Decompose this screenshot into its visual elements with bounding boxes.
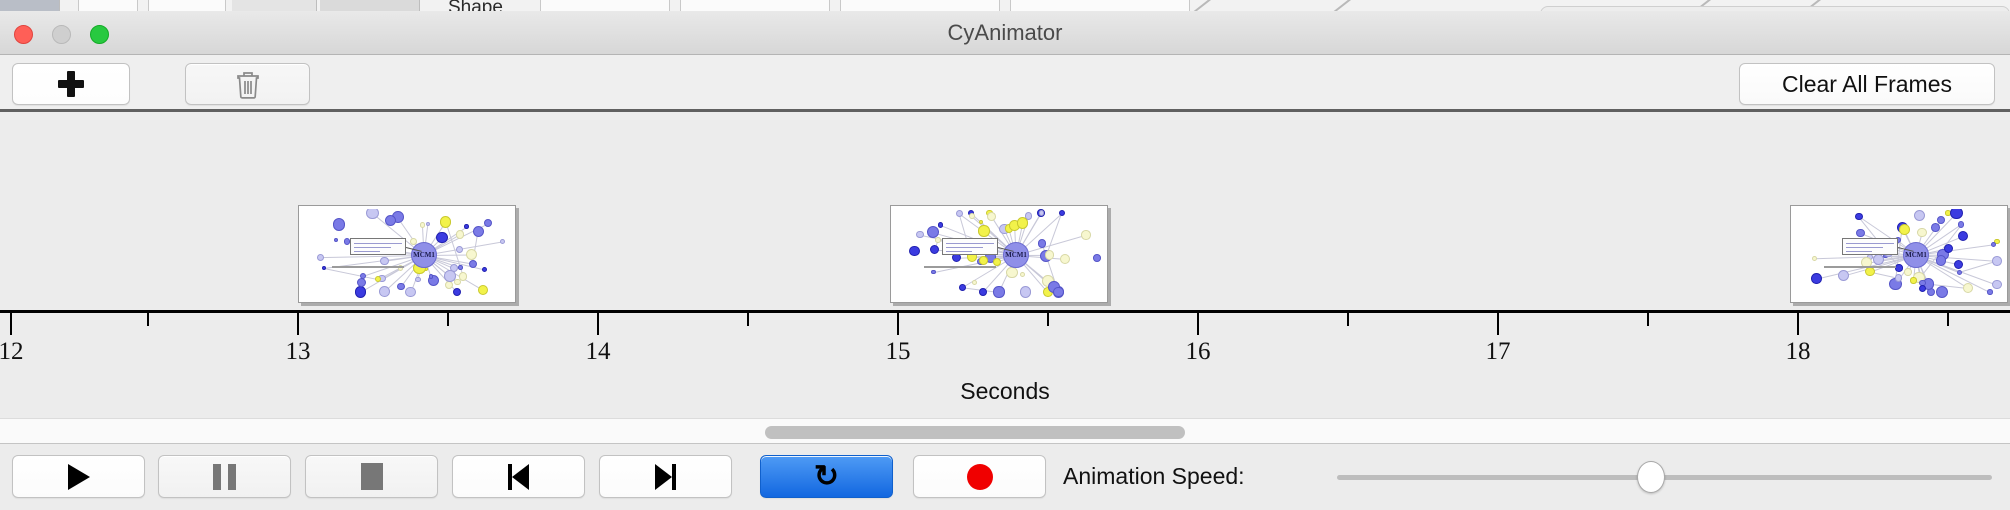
network-hub-node: MCM1 — [1003, 242, 1029, 268]
network-node — [1914, 210, 1925, 221]
ruler-tick-minor — [1047, 313, 1049, 326]
network-node — [993, 286, 1004, 297]
network-node — [1895, 264, 1902, 271]
ruler-tick-label: 18 — [1768, 338, 1828, 366]
network-node — [1917, 228, 1926, 237]
animation-speed-label: Animation Speed: — [1063, 455, 1245, 498]
network-node — [426, 222, 430, 226]
network-node — [466, 249, 477, 260]
network-node — [440, 216, 452, 228]
ruler-tick-major — [297, 313, 299, 335]
skip-to-end-button[interactable] — [599, 455, 732, 498]
annotation-text-line — [946, 247, 983, 248]
network-node — [469, 260, 477, 268]
network-node — [1873, 254, 1884, 265]
frame-caption-line — [924, 266, 996, 268]
network-node — [979, 288, 987, 296]
ruler-tick-major — [1197, 313, 1199, 335]
scrollbar-thumb[interactable] — [765, 426, 1185, 439]
network-node — [1992, 280, 2001, 289]
horizontal-scrollbar[interactable] — [0, 418, 2010, 444]
transport-bar: ↻ Animation Speed: — [0, 445, 2010, 510]
network-node — [357, 278, 366, 287]
network-node — [1045, 250, 1055, 260]
frame-caption-line — [332, 266, 404, 268]
network-node — [1899, 224, 1910, 235]
network-node — [1895, 274, 1902, 281]
network-node — [1017, 217, 1029, 229]
network-node — [1038, 239, 1046, 247]
toolbar: Clear All Frames — [0, 55, 2010, 112]
network-node — [987, 212, 996, 221]
network-node — [459, 272, 468, 281]
network-node — [993, 258, 1001, 266]
network-node — [473, 226, 484, 237]
skip-to-start-button[interactable] — [452, 455, 585, 498]
annotation-text-line — [354, 243, 402, 244]
network-node — [456, 246, 464, 254]
network-node — [1987, 289, 1993, 295]
network-node — [405, 287, 416, 298]
network-node — [1944, 244, 1953, 253]
pause-icon — [213, 464, 236, 490]
network-node — [1936, 255, 1946, 265]
ruler-tick-minor — [1947, 313, 1949, 326]
record-button[interactable] — [913, 455, 1046, 498]
network-node — [478, 285, 488, 295]
network-node — [1958, 231, 1969, 242]
network-node — [909, 246, 919, 256]
network-node — [969, 213, 975, 219]
ruler-tick-major — [597, 313, 599, 335]
play-button[interactable] — [12, 455, 145, 498]
stop-icon — [361, 463, 383, 490]
network-node — [482, 267, 487, 272]
network-node — [1856, 229, 1865, 238]
network-node — [1081, 230, 1090, 239]
add-frame-button[interactable] — [12, 63, 130, 105]
network-node — [1865, 267, 1874, 276]
network-node — [317, 254, 324, 261]
ruler-tick-label: 15 — [868, 338, 928, 366]
ruler-tick-minor — [447, 313, 449, 326]
title-bar: CyAnimator — [0, 11, 2010, 55]
timeline-frame[interactable]: MCM1 — [1790, 205, 2008, 303]
network-node — [972, 280, 977, 285]
record-icon — [967, 464, 993, 490]
network-node — [979, 256, 988, 265]
network-node — [355, 286, 366, 297]
network-node — [935, 237, 941, 243]
trash-icon — [234, 69, 262, 99]
ruler-tick-label: 17 — [1468, 338, 1528, 366]
network-node — [415, 277, 420, 282]
frame-annotation-box — [1842, 238, 1898, 255]
annotation-text-line — [354, 247, 391, 248]
frame-thumbnail-network: MCM1 — [1794, 209, 2004, 299]
network-node — [1950, 209, 1962, 219]
plus-icon — [58, 71, 84, 97]
network-node — [1812, 256, 1817, 261]
annotation-text-line — [1846, 243, 1894, 244]
network-node — [385, 215, 396, 226]
network-node — [500, 239, 506, 245]
network-node — [1963, 283, 1974, 294]
network-node — [1811, 273, 1822, 284]
annotation-text-line — [1846, 247, 1883, 248]
timeline-frame[interactable]: MCM1 — [298, 205, 516, 303]
network-node — [1093, 254, 1101, 262]
frame-annotation-box — [350, 238, 406, 255]
network-hub-node: MCM1 — [1903, 242, 1929, 268]
window-title: CyAnimator — [0, 11, 2010, 55]
network-node — [1954, 260, 1963, 269]
network-node — [1039, 210, 1044, 215]
timeline-frame[interactable]: MCM1 — [890, 205, 1108, 303]
network-node — [453, 288, 462, 297]
network-node — [444, 270, 456, 282]
network-node — [1957, 270, 1962, 275]
network-node — [458, 265, 462, 269]
network-node — [1020, 286, 1031, 297]
slider-thumb[interactable] — [1637, 461, 1665, 493]
frame-caption-line — [1824, 266, 1896, 268]
delete-frame-button[interactable] — [185, 63, 310, 105]
network-node — [1006, 267, 1018, 279]
ruler-tick-major — [10, 313, 12, 335]
network-node — [380, 257, 389, 266]
ruler-tick-label: 14 — [568, 338, 628, 366]
skip-forward-icon — [655, 464, 676, 490]
network-node — [379, 286, 390, 297]
clear-all-frames-button[interactable]: Clear All Frames — [1739, 63, 1995, 105]
network-node — [1936, 286, 1948, 298]
network-node — [334, 238, 338, 242]
ruler-tick-label: 16 — [1168, 338, 1228, 366]
network-node — [464, 224, 468, 228]
axis-label: Seconds — [0, 378, 2010, 405]
ruler-tick-minor — [747, 313, 749, 326]
network-node — [916, 231, 923, 238]
skip-back-icon — [508, 464, 529, 490]
network-node — [456, 230, 465, 239]
ruler-baseline — [0, 310, 2010, 313]
network-node — [978, 225, 989, 236]
network-node — [1937, 216, 1945, 224]
loop-button[interactable]: ↻ — [760, 455, 893, 498]
annotation-text-line — [946, 251, 972, 252]
network-hub-node: MCM1 — [411, 242, 437, 268]
network-node — [1060, 254, 1070, 264]
ruler-tick-label: 13 — [268, 338, 328, 366]
play-icon — [68, 464, 90, 490]
network-node — [1991, 242, 1996, 247]
ruler-tick-major — [1497, 313, 1499, 335]
loop-icon: ↻ — [814, 462, 839, 492]
network-node — [1059, 210, 1066, 217]
ruler-tick-minor — [147, 313, 149, 326]
network-node — [930, 245, 939, 254]
network-node — [420, 222, 426, 228]
ruler-tick-major — [1797, 313, 1799, 335]
network-node — [1992, 256, 2002, 266]
ruler-tick-label: 12 — [0, 338, 41, 366]
network-node — [959, 284, 966, 291]
network-node — [1919, 285, 1926, 292]
ruler-tick-major — [897, 313, 899, 335]
annotation-text-line — [354, 251, 380, 252]
network-node — [1838, 270, 1849, 281]
frame-annotation-box — [942, 238, 998, 255]
network-node — [1910, 277, 1916, 283]
network-node — [1958, 221, 1964, 227]
network-node — [931, 270, 936, 275]
timeline-ruler: Seconds 12131415161718 — [0, 310, 2010, 418]
ruler-tick-minor — [1647, 313, 1649, 326]
annotation-text-line — [1846, 251, 1872, 252]
network-node — [1020, 272, 1025, 277]
animation-speed-slider[interactable] — [1337, 455, 1992, 498]
network-node — [333, 218, 345, 230]
frame-thumbnail-network: MCM1 — [894, 209, 1104, 299]
pause-button[interactable] — [158, 455, 291, 498]
network-node — [1931, 223, 1940, 232]
network-node — [484, 219, 492, 227]
stop-button[interactable] — [305, 455, 438, 498]
ruler-tick-minor — [1347, 313, 1349, 326]
annotation-text-line — [946, 243, 994, 244]
frame-thumbnail-network: MCM1 — [302, 209, 512, 299]
network-node — [397, 283, 404, 290]
network-node — [1904, 268, 1912, 276]
